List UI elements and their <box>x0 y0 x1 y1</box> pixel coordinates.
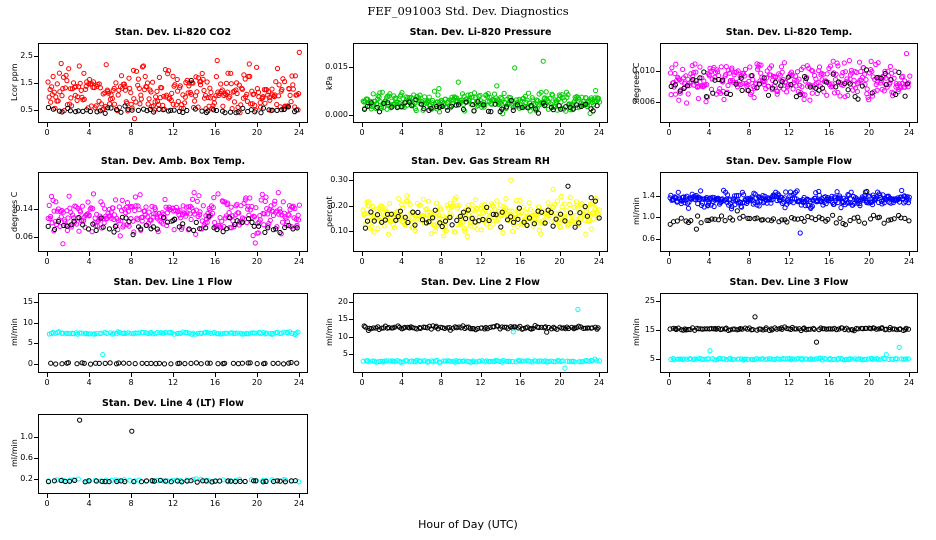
y-tick-mark <box>34 110 38 111</box>
x-tick-label: 8 <box>739 257 759 266</box>
x-tick-mark <box>257 373 258 377</box>
plot-area <box>38 414 308 494</box>
y-axis-label: kPa <box>325 76 334 90</box>
x-tick-label: 20 <box>247 378 267 387</box>
x-tick-label: 12 <box>779 378 799 387</box>
x-tick-label: 24 <box>899 257 919 266</box>
plot-area <box>38 293 308 373</box>
y-tick-mark <box>349 206 353 207</box>
y-tick-mark <box>656 239 660 240</box>
y-tick-mark <box>349 231 353 232</box>
y-tick-label: 0 <box>6 359 33 368</box>
y-tick-label: 2.5 <box>6 51 33 60</box>
x-tick-label: 8 <box>431 378 451 387</box>
x-tick-label: 4 <box>392 378 412 387</box>
x-tick-mark <box>89 252 90 256</box>
x-tick-mark <box>402 252 403 256</box>
x-tick-label: 20 <box>859 257 879 266</box>
x-tick-mark <box>402 123 403 127</box>
x-tick-label: 0 <box>37 378 57 387</box>
x-tick-label: 12 <box>163 257 183 266</box>
y-axis-label: ml/min <box>10 318 19 346</box>
x-tick-label: 12 <box>471 378 491 387</box>
y-axis-label: ml/min <box>632 318 641 346</box>
y-tick-mark <box>349 337 353 338</box>
x-tick-label: 12 <box>779 257 799 266</box>
x-tick-label: 4 <box>699 128 719 137</box>
y-tick-mark <box>349 180 353 181</box>
y-tick-mark <box>349 354 353 355</box>
x-tick-label: 8 <box>739 128 759 137</box>
x-tick-label: 0 <box>37 499 57 508</box>
y-tick-label: 25 <box>628 296 655 305</box>
plot-area <box>660 172 918 252</box>
chart-panel: Stan. Dev. Line 4 (LT) Flow0.20.61.00481… <box>6 398 316 518</box>
y-tick-label: 0.6 <box>628 234 655 243</box>
x-tick-label: 24 <box>589 257 609 266</box>
x-tick-label: 16 <box>510 257 530 266</box>
chart-panel: Stan. Dev. Li-820 Pressure0.0000.0150481… <box>321 27 616 147</box>
x-tick-mark <box>829 373 830 377</box>
scatter-points <box>661 294 918 373</box>
x-tick-label: 24 <box>589 128 609 137</box>
x-tick-label: 4 <box>79 499 99 508</box>
x-tick-label: 16 <box>819 378 839 387</box>
x-tick-mark <box>709 252 710 256</box>
x-tick-label: 20 <box>247 499 267 508</box>
panel-title: Stan. Dev. Amb. Box Temp. <box>38 156 308 167</box>
scatter-points <box>354 294 608 373</box>
x-tick-mark <box>89 123 90 127</box>
x-tick-label: 16 <box>510 128 530 137</box>
x-tick-label: 16 <box>819 128 839 137</box>
x-tick-label: 12 <box>471 128 491 137</box>
y-tick-mark <box>34 479 38 480</box>
y-tick-mark <box>656 71 660 72</box>
x-tick-label: 16 <box>205 499 225 508</box>
x-tick-mark <box>299 373 300 377</box>
scatter-points <box>661 173 918 252</box>
x-tick-label: 8 <box>121 128 141 137</box>
x-tick-mark <box>89 373 90 377</box>
x-tick-mark <box>599 252 600 256</box>
y-tick-mark <box>349 115 353 116</box>
x-tick-mark <box>709 373 710 377</box>
chart-panel: Stan. Dev. Amb. Box Temp.0.060.140481216… <box>6 156 316 276</box>
y-tick-mark <box>34 83 38 84</box>
x-tick-mark <box>47 252 48 256</box>
x-tick-label: 4 <box>79 257 99 266</box>
x-tick-mark <box>789 373 790 377</box>
x-tick-mark <box>257 252 258 256</box>
y-tick-mark <box>34 237 38 238</box>
x-tick-mark <box>215 252 216 256</box>
y-tick-mark <box>34 56 38 57</box>
plot-area <box>353 172 608 252</box>
y-tick-label: 0.5 <box>6 105 33 114</box>
x-tick-mark <box>829 123 830 127</box>
x-tick-label: 0 <box>37 128 57 137</box>
x-tick-mark <box>441 252 442 256</box>
x-tick-label: 8 <box>431 128 451 137</box>
y-tick-mark <box>349 302 353 303</box>
chart-panel: Stan. Dev. Line 2 Flow510152004812162024… <box>321 277 616 397</box>
y-axis-label: degrees C <box>10 191 19 231</box>
x-tick-mark <box>481 123 482 127</box>
x-tick-label: 4 <box>392 257 412 266</box>
x-tick-label: 4 <box>79 128 99 137</box>
x-tick-mark <box>299 494 300 498</box>
x-tick-mark <box>362 252 363 256</box>
x-tick-label: 20 <box>859 378 879 387</box>
scatter-points <box>39 415 308 494</box>
y-tick-mark <box>34 302 38 303</box>
x-tick-label: 0 <box>352 257 372 266</box>
x-tick-mark <box>173 494 174 498</box>
x-tick-label: 8 <box>121 257 141 266</box>
x-tick-label: 4 <box>79 378 99 387</box>
x-tick-mark <box>599 373 600 377</box>
x-tick-mark <box>829 252 830 256</box>
y-tick-mark <box>34 458 38 459</box>
y-tick-label: 5 <box>321 349 348 358</box>
x-tick-mark <box>560 123 561 127</box>
panel-title: Stan. Dev. Li-820 CO2 <box>38 27 308 38</box>
x-tick-mark <box>299 252 300 256</box>
y-tick-mark <box>349 67 353 68</box>
x-tick-mark <box>749 373 750 377</box>
x-tick-mark <box>362 123 363 127</box>
x-tick-mark <box>869 123 870 127</box>
x-tick-mark <box>215 373 216 377</box>
x-tick-label: 20 <box>550 378 570 387</box>
x-tick-label: 0 <box>659 128 679 137</box>
x-tick-mark <box>257 123 258 127</box>
x-tick-label: 12 <box>163 128 183 137</box>
x-tick-mark <box>749 123 750 127</box>
x-tick-mark <box>362 373 363 377</box>
x-tick-mark <box>47 494 48 498</box>
scatter-points <box>39 44 308 123</box>
y-tick-label: 0.2 <box>6 474 33 483</box>
x-tick-label: 0 <box>37 257 57 266</box>
y-axis-label: ml/min <box>10 439 19 467</box>
x-tick-mark <box>560 252 561 256</box>
x-tick-mark <box>520 373 521 377</box>
x-tick-label: 20 <box>247 128 267 137</box>
y-tick-mark <box>656 196 660 197</box>
x-tick-mark <box>909 373 910 377</box>
x-tick-mark <box>131 252 132 256</box>
x-tick-label: 16 <box>205 378 225 387</box>
y-axis-label: percent <box>325 197 334 228</box>
y-tick-mark <box>656 217 660 218</box>
x-tick-label: 20 <box>859 128 879 137</box>
y-axis-label: degrees C <box>632 62 641 102</box>
x-tick-mark <box>669 373 670 377</box>
x-tick-mark <box>599 123 600 127</box>
x-tick-mark <box>481 252 482 256</box>
y-tick-mark <box>656 359 660 360</box>
page-title: FEF_091003 Std. Dev. Diagnostics <box>0 4 936 18</box>
chart-panel: Stan. Dev. Line 1 Flow05101504812162024m… <box>6 277 316 397</box>
x-tick-mark <box>789 252 790 256</box>
plot-area <box>38 172 308 252</box>
plot-area <box>38 43 308 123</box>
x-tick-mark <box>909 123 910 127</box>
y-tick-mark <box>34 343 38 344</box>
x-tick-mark <box>215 494 216 498</box>
x-tick-mark <box>669 252 670 256</box>
panel-title: Stan. Dev. Line 4 (LT) Flow <box>38 398 308 409</box>
x-tick-label: 12 <box>779 128 799 137</box>
x-tick-label: 16 <box>205 257 225 266</box>
x-tick-mark <box>257 494 258 498</box>
x-tick-label: 20 <box>550 128 570 137</box>
chart-panel: Stan. Dev. Li-820 CO20.51.52.50481216202… <box>6 27 316 147</box>
x-tick-mark <box>47 123 48 127</box>
chart-panel: Stan. Dev. Gas Stream RH0.100.200.300481… <box>321 156 616 276</box>
x-tick-label: 16 <box>510 378 530 387</box>
panel-title: Stan. Dev. Sample Flow <box>660 156 918 167</box>
x-tick-mark <box>909 252 910 256</box>
scatter-points <box>39 294 308 373</box>
x-tick-mark <box>669 123 670 127</box>
y-tick-label: 0.06 <box>6 232 33 241</box>
x-tick-mark <box>131 123 132 127</box>
panel-title: Stan. Dev. Gas Stream RH <box>353 156 608 167</box>
scatter-points <box>354 173 608 252</box>
x-tick-mark <box>441 373 442 377</box>
panel-title: Stan. Dev. Line 2 Flow <box>353 277 608 288</box>
x-tick-label: 16 <box>205 128 225 137</box>
x-tick-label: 20 <box>550 257 570 266</box>
y-tick-mark <box>656 330 660 331</box>
y-tick-label: 15 <box>6 297 33 306</box>
x-tick-label: 12 <box>471 257 491 266</box>
scatter-points <box>661 44 918 123</box>
x-tick-mark <box>89 494 90 498</box>
x-tick-label: 24 <box>589 378 609 387</box>
x-tick-mark <box>441 123 442 127</box>
y-tick-mark <box>34 323 38 324</box>
x-tick-label: 4 <box>392 128 412 137</box>
y-tick-label: 20 <box>321 297 348 306</box>
x-tick-mark <box>749 252 750 256</box>
panel-title: Stan. Dev. Line 3 Flow <box>660 277 918 288</box>
y-tick-mark <box>656 301 660 302</box>
y-tick-mark <box>656 102 660 103</box>
y-tick-label: 5 <box>628 354 655 363</box>
y-axis-label: ml/min <box>325 318 334 346</box>
y-tick-label: 0.30 <box>321 175 348 184</box>
x-tick-label: 24 <box>899 378 919 387</box>
x-tick-mark <box>520 123 521 127</box>
x-tick-label: 20 <box>247 257 267 266</box>
x-tick-label: 8 <box>121 378 141 387</box>
plot-area <box>660 293 918 373</box>
x-tick-mark <box>131 494 132 498</box>
x-axis-title: Hour of Day (UTC) <box>0 518 936 531</box>
plot-area <box>353 43 608 123</box>
y-axis-label: Lcor ppm <box>10 63 19 101</box>
x-tick-mark <box>215 123 216 127</box>
chart-panel: Stan. Dev. Sample Flow0.61.01.4048121620… <box>628 156 926 276</box>
x-tick-mark <box>520 252 521 256</box>
scatter-points <box>354 44 608 123</box>
x-tick-mark <box>47 373 48 377</box>
panel-title: Stan. Dev. Li-820 Pressure <box>353 27 608 38</box>
y-tick-mark <box>34 437 38 438</box>
x-tick-label: 24 <box>289 378 309 387</box>
x-tick-label: 16 <box>819 257 839 266</box>
x-tick-label: 4 <box>699 257 719 266</box>
y-tick-label: 0.000 <box>321 110 348 119</box>
plot-area <box>660 43 918 123</box>
y-axis-label: ml/min <box>632 197 641 225</box>
x-tick-mark <box>173 252 174 256</box>
x-tick-label: 8 <box>121 499 141 508</box>
panel-title: Stan. Dev. Line 1 Flow <box>38 277 308 288</box>
x-tick-label: 8 <box>431 257 451 266</box>
x-tick-label: 8 <box>739 378 759 387</box>
x-tick-label: 12 <box>163 378 183 387</box>
x-tick-label: 0 <box>352 378 372 387</box>
x-tick-label: 12 <box>163 499 183 508</box>
y-tick-mark <box>349 319 353 320</box>
x-tick-mark <box>173 373 174 377</box>
x-tick-mark <box>869 373 870 377</box>
x-tick-label: 24 <box>289 257 309 266</box>
x-tick-mark <box>869 252 870 256</box>
panel-title: Stan. Dev. Li-820 Temp. <box>660 27 918 38</box>
x-tick-mark <box>789 123 790 127</box>
x-tick-mark <box>173 123 174 127</box>
y-tick-label: 0.10 <box>321 226 348 235</box>
plot-area <box>353 293 608 373</box>
x-tick-label: 24 <box>899 128 919 137</box>
x-tick-mark <box>481 373 482 377</box>
x-tick-mark <box>709 123 710 127</box>
x-tick-mark <box>402 373 403 377</box>
x-tick-mark <box>131 373 132 377</box>
x-tick-label: 0 <box>659 257 679 266</box>
y-tick-label: 0.015 <box>321 62 348 71</box>
x-tick-label: 4 <box>699 378 719 387</box>
x-tick-label: 0 <box>659 378 679 387</box>
x-tick-label: 24 <box>289 499 309 508</box>
y-tick-mark <box>34 209 38 210</box>
chart-panel: Stan. Dev. Li-820 Temp.0.0060.0100481216… <box>628 27 926 147</box>
x-tick-label: 0 <box>352 128 372 137</box>
y-tick-mark <box>34 364 38 365</box>
x-tick-label: 24 <box>289 128 309 137</box>
x-tick-mark <box>560 373 561 377</box>
scatter-points <box>39 173 308 252</box>
chart-panel: Stan. Dev. Line 3 Flow5152504812162024ml… <box>628 277 926 397</box>
x-tick-mark <box>299 123 300 127</box>
